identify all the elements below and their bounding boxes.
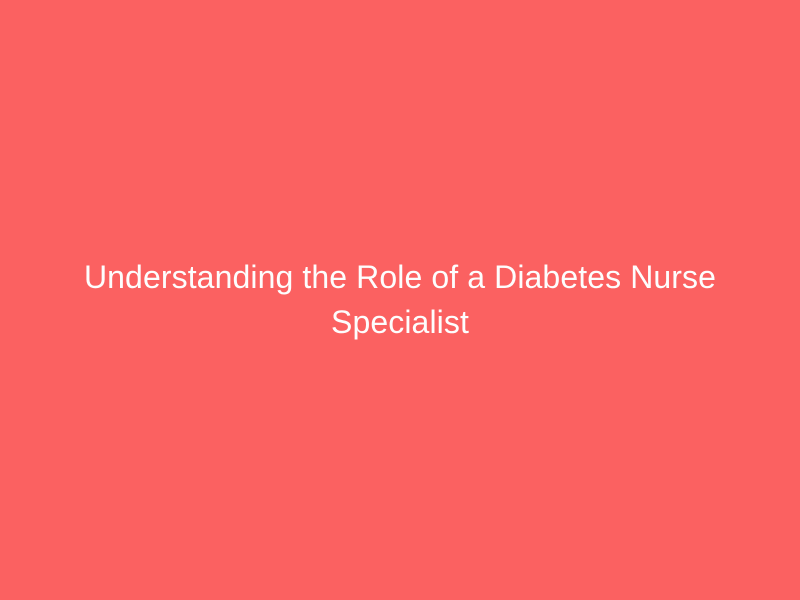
- hero-banner: Understanding the Role of a Diabetes Nur…: [0, 0, 800, 600]
- title-block: Understanding the Role of a Diabetes Nur…: [70, 255, 730, 345]
- page-title: Understanding the Role of a Diabetes Nur…: [70, 255, 730, 345]
